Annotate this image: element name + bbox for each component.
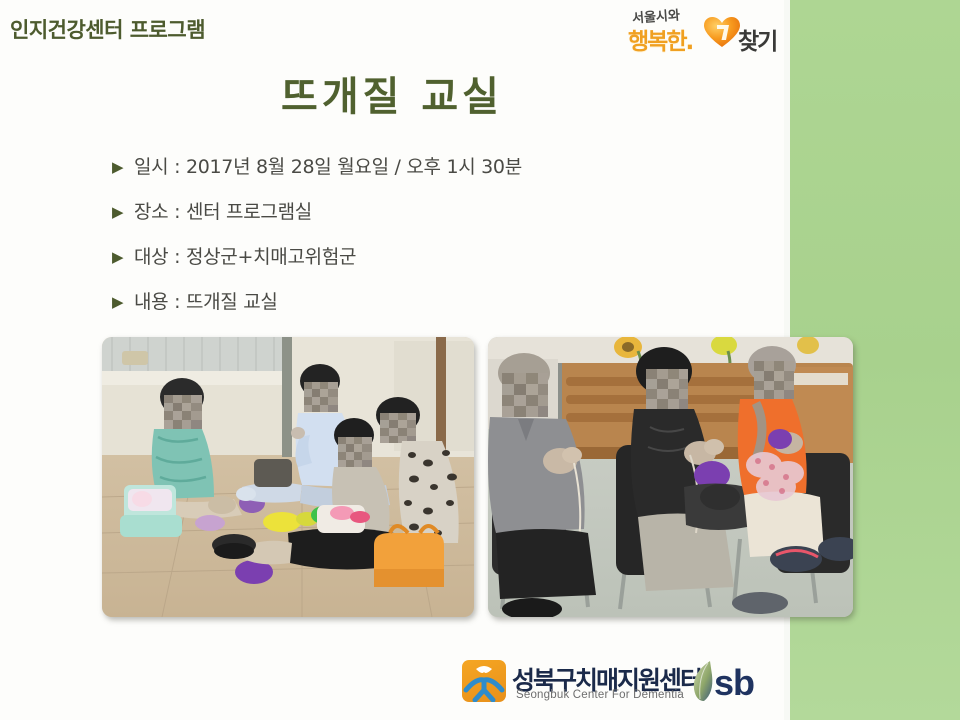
list-item-label: 대상 : 정상군+치매고위험군 (134, 244, 356, 271)
slide-canvas: 咏 인지건강센터 프로그램 서울시와 행복한. 찾기 뜨개질 교실 (0, 0, 960, 720)
page-title: 뜨개질 교실 (0, 64, 784, 122)
footer-logo: 성북구치매지원센터 Seongbuk Center For Dementia s… (462, 658, 772, 708)
seoul-logo-find: 찾기 (738, 22, 776, 56)
triangle-bullet-icon: ▶ (112, 244, 134, 271)
page-header-label: 인지건강센터 프로그램 (10, 14, 205, 44)
photo-floor-knitting (102, 337, 474, 617)
feather-icon (690, 659, 716, 703)
list-item-label: 일시 : 2017년 8월 28일 월요일 / 오후 1시 30분 (134, 154, 522, 181)
footer-logo-english: Seongbuk Center For Dementia (516, 689, 684, 701)
person-bird-badge-icon (462, 660, 506, 702)
list-item-label: 내용 : 뜨개질 교실 (134, 289, 278, 316)
triangle-bullet-icon: ▶ (112, 154, 134, 181)
orange-heart-icon (704, 17, 740, 48)
list-item: ▶ 내용 : 뜨개질 교실 (112, 289, 762, 334)
triangle-bullet-icon: ▶ (112, 289, 134, 316)
list-item: ▶ 일시 : 2017년 8월 28일 월요일 / 오후 1시 30분 (112, 154, 762, 199)
photo-chair-knitting (488, 337, 853, 617)
triangle-bullet-icon: ▶ (112, 199, 134, 226)
list-item-label: 장소 : 센터 프로그램실 (134, 199, 312, 226)
list-item: ▶ 대상 : 정상군+치매고위험군 (112, 244, 762, 289)
footer-logo-mark: sb (714, 662, 754, 704)
seoul-happy-logo: 서울시와 행복한. 찾기 (628, 6, 780, 50)
seoul-logo-happy: 행복한. (628, 22, 692, 56)
details-list: ▶ 일시 : 2017년 8월 28일 월요일 / 오후 1시 30분 ▶ 장소… (112, 154, 762, 334)
list-item: ▶ 장소 : 센터 프로그램실 (112, 199, 762, 244)
